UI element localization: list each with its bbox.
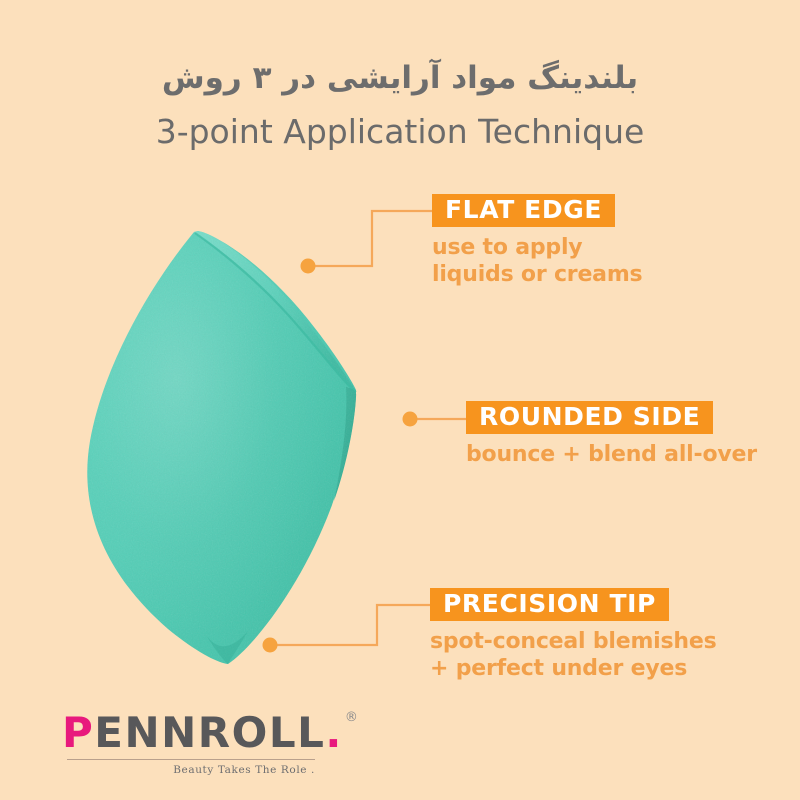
description-flat-edge: use to apply liquids or creams	[432, 234, 642, 289]
logo-wordmark: PENNROLL. ®	[62, 712, 362, 754]
title-block: بلندینگ مواد آرایشی در ۳ روش 3-point App…	[0, 56, 800, 156]
callout-precision-tip: PRECISION TIP spot-conceal blemishes + p…	[430, 588, 716, 683]
callout-flat-edge: FLAT EDGE use to apply liquids or creams	[432, 194, 642, 289]
brand-logo: PENNROLL. ® Beauty Takes The Role .	[62, 712, 362, 776]
sponge-body	[87, 231, 356, 664]
logo-initial: P	[62, 708, 94, 757]
badge-rounded-side: ROUNDED SIDE	[466, 401, 713, 434]
logo-tagline: Beauty Takes The Role .	[62, 764, 315, 776]
badge-flat-edge: FLAT EDGE	[432, 194, 615, 227]
page-title-english: 3-point Application Technique	[0, 107, 800, 157]
description-precision-tip: spot-conceal blemishes + perfect under e…	[430, 628, 716, 683]
page-title-farsi: بلندینگ مواد آرایشی در ۳ روش	[0, 56, 800, 101]
infographic-poster: بلندینگ مواد آرایشی در ۳ روش 3-point App…	[0, 0, 800, 800]
registered-trademark-icon: ®	[345, 710, 358, 725]
description-rounded-side: bounce + blend all-over	[466, 441, 757, 468]
badge-precision-tip: PRECISION TIP	[430, 588, 669, 621]
logo-text: PENNROLL.	[62, 712, 343, 754]
logo-rest: ENNROLL	[94, 708, 325, 757]
callout-rounded-side: ROUNDED SIDE bounce + blend all-over	[466, 401, 757, 468]
logo-divider	[67, 759, 315, 760]
logo-period: .	[325, 708, 342, 757]
blender-sponge-illustration	[56, 205, 406, 665]
